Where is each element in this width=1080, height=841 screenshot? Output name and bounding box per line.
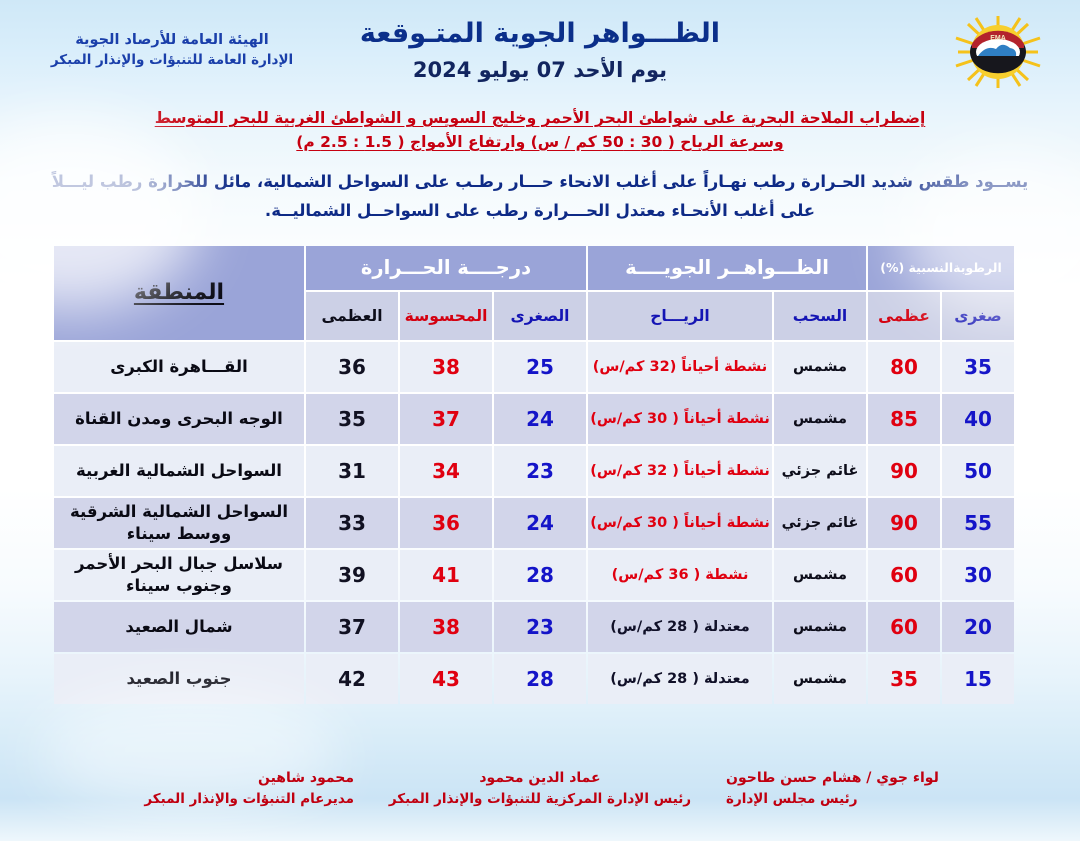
page-title: الظـــواهر الجوية المتـوقعة [330,18,750,50]
svg-text:EMA: EMA [990,35,1006,42]
table-row: 1535مشمسمعتدلة ( 28 كم/س)284342جنوب الصع… [54,654,1014,704]
table-row: 5590غائم جزئينشطة أحياناً ( 30 كم/س)2436… [54,498,1014,548]
summary-line-1: يســود طقس شديد الحـرارة رطب نهـاراً على… [52,172,1029,191]
cell-temp-feels: 34 [400,446,492,496]
cell-clouds: مشمس [774,550,866,600]
group-header-temperature: درجــــة الحـــرارة [306,246,586,290]
cell-wind: معتدلة ( 28 كم/س) [588,602,772,652]
cell-humidity-max: 60 [868,550,940,600]
subheader-temp-min: الصغرى [494,292,586,340]
cell-temp-feels: 41 [400,550,492,600]
table-row: 3580مشمسنشطة أحياناً (32 كم/س)253836القـ… [54,342,1014,392]
group-header-phenomena: الظـــواهــر الجويــــة [588,246,866,290]
cell-temp-min: 24 [494,498,586,548]
cell-clouds: غائم جزئي [774,498,866,548]
cell-temp-max: 42 [306,654,398,704]
signature-role: رئيس مجلس الإدارة [726,789,1062,809]
cell-temp-max: 33 [306,498,398,548]
cell-temp-max: 37 [306,602,398,652]
cell-temp-min: 24 [494,394,586,444]
department-name: الإدارة العامة للتنبؤات والإنذار المبكر [22,51,322,71]
subheader-temp-max: العظمى [306,292,398,340]
cell-temp-min: 23 [494,602,586,652]
cell-region: الوجه البحرى ومدن القناة [54,394,304,444]
forecast-table-wrap: الرطوبةالنسبية (%) الظـــواهــر الجويـــ… [64,244,1016,706]
cell-temp-min: 23 [494,446,586,496]
cell-temp-min: 28 [494,550,586,600]
cell-humidity-min: 50 [942,446,1014,496]
forecast-page: EMA الهيئة العامة للأرصاد الجوية الإدارة… [0,0,1080,841]
cell-humidity-min: 55 [942,498,1014,548]
cell-region: السواحل الشمالية الغربية [54,446,304,496]
table-row: 2060مشمسمعتدلة ( 28 كم/س)233837شمال الصع… [54,602,1014,652]
cell-region: سلاسل جبال البحر الأحمر وجنوب سيناء [54,550,304,600]
cell-temp-min: 25 [494,342,586,392]
cell-wind: نشطة ( 36 كم/س) [588,550,772,600]
table-row: 4085مشمسنشطة أحياناً ( 30 كم/س)243735الو… [54,394,1014,444]
group-header-humidity: الرطوبةالنسبية (%) [868,246,1014,290]
ema-logo-icon: EMA [952,14,1044,90]
cell-temp-feels: 43 [400,654,492,704]
marine-warning: إضطراب الملاحة البحرية على شواطئ البحر ا… [90,106,990,154]
page-footer: لواء جوي / هشام حسن طاحون رئيس مجلس الإد… [0,768,1080,830]
summary-line-2: على أغلب الأنحـاء معتدل الحـــرارة رطب ع… [265,201,815,220]
table-group-header-row: الرطوبةالنسبية (%) الظـــواهــر الجويـــ… [54,246,1014,290]
cell-humidity-min: 40 [942,394,1014,444]
organization-block: الهيئة العامة للأرصاد الجوية الإدارة الع… [22,30,322,71]
cell-temp-max: 39 [306,550,398,600]
cell-clouds: مشمس [774,654,866,704]
group-header-region: المنطقة [54,246,304,340]
subheader-humidity-max: عظمى [868,292,940,340]
forecast-date: يوم الأحد 07 يوليو 2024 [330,58,750,82]
forecast-table-body: 3580مشمسنشطة أحياناً (32 كم/س)253836القـ… [54,342,1014,704]
cell-region: القـــاهرة الكبرى [54,342,304,392]
signature-chairman: لواء جوي / هشام حسن طاحون رئيس مجلس الإد… [708,768,1062,830]
cell-temp-max: 31 [306,446,398,496]
subheader-temp-feels: المحسوسة [400,292,492,340]
cell-humidity-max: 35 [868,654,940,704]
organization-name: الهيئة العامة للأرصاد الجوية [22,30,322,51]
signature-role: رئيس الإدارة المركزية للتنبؤات والإنذار … [372,789,708,809]
table-row: 5090غائم جزئينشطة أحياناً ( 32 كم/س)2334… [54,446,1014,496]
warning-line-2: وسرعة الرياح ( 30 : 50 كم / س) وارتفاع ا… [296,133,783,151]
signature-name: عماد الدين محمود [372,768,708,789]
warning-line-1: إضطراب الملاحة البحرية على شواطئ البحر ا… [155,109,926,127]
cell-humidity-max: 85 [868,394,940,444]
subheader-humidity-min: صغرى [942,292,1014,340]
cell-temp-feels: 37 [400,394,492,444]
cell-humidity-min: 30 [942,550,1014,600]
cell-region: شمال الصعيد [54,602,304,652]
cell-wind: نشطة أحياناً ( 30 كم/س) [588,498,772,548]
cell-humidity-max: 80 [868,342,940,392]
cell-wind: نشطة أحياناً ( 30 كم/س) [588,394,772,444]
title-block: الظـــواهر الجوية المتـوقعة يوم الأحد 07… [330,18,750,82]
cell-humidity-min: 15 [942,654,1014,704]
signature-name: لواء جوي / هشام حسن طاحون [726,768,1062,789]
signature-name: محمود شاهين [18,768,354,789]
cell-temp-max: 35 [306,394,398,444]
cell-clouds: غائم جزئي [774,446,866,496]
signature-general-manager: محمود شاهين مديرعام التنبؤات والإنذار ال… [18,768,372,830]
cell-clouds: مشمس [774,394,866,444]
cell-temp-max: 36 [306,342,398,392]
cell-humidity-max: 90 [868,498,940,548]
cell-humidity-min: 35 [942,342,1014,392]
weather-summary: يســود طقس شديد الحـرارة رطب نهـاراً على… [35,168,1045,226]
cell-temp-feels: 38 [400,602,492,652]
page-header: EMA الهيئة العامة للأرصاد الجوية الإدارة… [0,0,1080,100]
forecast-table: الرطوبةالنسبية (%) الظـــواهــر الجويـــ… [52,244,1016,706]
cell-clouds: مشمس [774,602,866,652]
cell-wind: معتدلة ( 28 كم/س) [588,654,772,704]
cell-temp-feels: 38 [400,342,492,392]
cell-humidity-max: 90 [868,446,940,496]
signature-central-head: عماد الدين محمود رئيس الإدارة المركزية ل… [372,768,708,830]
cell-wind: نشطة أحياناً (32 كم/س) [588,342,772,392]
subheader-clouds: السحب [774,292,866,340]
cell-region: السواحل الشمالية الشرقية ووسط سيناء [54,498,304,548]
cell-temp-min: 28 [494,654,586,704]
cell-clouds: مشمس [774,342,866,392]
cell-humidity-min: 20 [942,602,1014,652]
signature-role: مديرعام التنبؤات والإنذار المبكر [18,789,354,809]
cell-temp-feels: 36 [400,498,492,548]
subheader-wind: الريـــاح [588,292,772,340]
table-row: 3060مشمسنشطة ( 36 كم/س)284139سلاسل جبال … [54,550,1014,600]
cell-region: جنوب الصعيد [54,654,304,704]
cell-humidity-max: 60 [868,602,940,652]
cell-wind: نشطة أحياناً ( 32 كم/س) [588,446,772,496]
